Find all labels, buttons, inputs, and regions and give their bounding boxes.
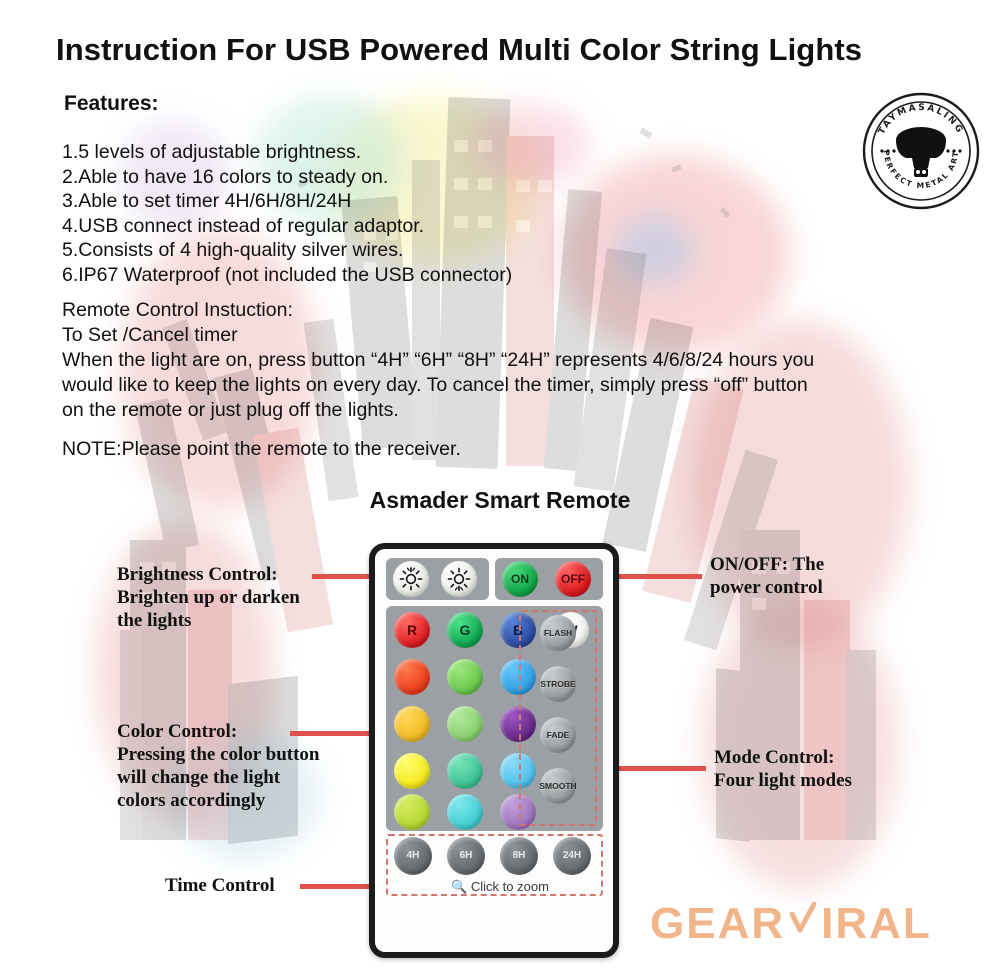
remote-control-instruction: Remote Control Instuction: To Set /Cance… (62, 298, 954, 423)
power-off-label: OFF (561, 573, 585, 585)
mode-button-label: STROBE (540, 680, 575, 689)
color-button-yellow[interactable] (394, 753, 430, 789)
sun-bright-icon (398, 566, 424, 592)
page-title: Instruction For USB Powered Multi Color … (56, 32, 956, 68)
timer-button-label: 6H (460, 851, 473, 861)
annotation-line: power control (710, 576, 950, 599)
mode-button-label: FLASH (544, 629, 572, 638)
color-button-green[interactable]: G (447, 612, 483, 648)
annotation-time-control: Time Control (165, 874, 315, 897)
timer-button-8h[interactable]: 8H (500, 837, 538, 875)
mode-button-flash[interactable]: FLASH (540, 615, 576, 651)
feature-item: 1.5 levels of adjustable brightness. (62, 140, 682, 165)
annotation-onoff-control: ON/OFF: The power control (710, 553, 950, 599)
features-heading: Features: (64, 92, 159, 116)
gearviral-watermark: GEAR IRAL (650, 898, 932, 949)
annotation-line: Color Control: (117, 720, 347, 743)
brand-badge-logo: TAYMASALING PERFECT METAL ART (862, 92, 980, 210)
power-off-button[interactable]: OFF (555, 561, 591, 597)
instruction-line: To Set /Cancel timer (62, 323, 954, 348)
leader-line-onoff (610, 574, 702, 579)
watermark-text-part1: GEAR (650, 899, 785, 949)
timer-button-label: 24H (563, 851, 581, 861)
feature-item: 4.USB connect instead of regular adaptor… (62, 214, 682, 239)
annotation-line: Time Control (165, 874, 315, 897)
timer-button-24h[interactable]: 24H (553, 837, 591, 875)
annotation-line: Brightness Control: (117, 563, 317, 586)
instruction-line: would like to keep the lights on every d… (62, 373, 954, 398)
color-button-light-green[interactable] (447, 659, 483, 695)
color-button-label: G (460, 623, 471, 637)
power-on-button[interactable]: ON (502, 561, 538, 597)
click-to-zoom-hint[interactable]: 🔍 Click to zoom (375, 879, 625, 895)
timer-button-4h[interactable]: 4H (394, 837, 432, 875)
instruction-sheet: Instruction For USB Powered Multi Color … (0, 0, 1000, 968)
timer-button-6h[interactable]: 6H (447, 837, 485, 875)
remote-control: ON OFF R G B W (369, 543, 619, 958)
splash-red-bottom-right (700, 600, 900, 890)
mode-button-smooth[interactable]: SMOOTH (540, 768, 576, 804)
instruction-line: Remote Control Instuction: (62, 298, 954, 323)
annotation-line: Mode Control: (714, 746, 954, 769)
color-button-orange-red[interactable] (394, 659, 430, 695)
annotation-line: colors accordingly (117, 789, 347, 812)
remote-heading: Asmader Smart Remote (0, 487, 1000, 514)
annotation-line: Pressing the color button (117, 743, 347, 766)
click-to-zoom-label: Click to zoom (471, 879, 549, 894)
note-text: NOTE:Please point the remote to the rece… (62, 437, 461, 462)
instruction-line: on the remote or just plug off the light… (62, 398, 954, 423)
color-button-label: R (407, 623, 417, 637)
brightness-up-button[interactable] (393, 561, 429, 597)
features-list: 1.5 levels of adjustable brightness. 2.A… (62, 140, 682, 288)
annotation-line: will change the light (117, 766, 347, 789)
annotation-color-control: Color Control: Pressing the color button… (117, 720, 347, 812)
timer-button-label: 8H (513, 851, 526, 861)
color-button-red[interactable]: R (394, 612, 430, 648)
annotation-mode-control: Mode Control: Four light modes (714, 746, 954, 792)
mode-button-fade[interactable]: FADE (540, 717, 576, 753)
magnifier-icon: 🔍 (451, 879, 467, 894)
color-button-turquoise[interactable] (447, 753, 483, 789)
instruction-line: When the light are on, press button “4H”… (62, 348, 954, 373)
brightness-down-button[interactable] (441, 561, 477, 597)
timer-button-label: 4H (407, 851, 420, 861)
annotation-line: Four light modes (714, 769, 954, 792)
feature-item: 3.Able to set timer 4H/6H/8H/24H (62, 189, 682, 214)
color-button-cyan[interactable] (447, 794, 483, 830)
mode-button-strobe[interactable]: STROBE (540, 666, 576, 702)
annotation-brightness-control: Brightness Control: Brighten up or darke… (117, 563, 317, 632)
watermark-text-part2: IRAL (821, 899, 932, 949)
sun-dim-icon (446, 566, 472, 592)
mode-button-label: SMOOTH (539, 782, 576, 791)
check-mark-icon (788, 898, 818, 949)
annotation-line: ON/OFF: The (710, 553, 950, 576)
color-button-mint-green[interactable] (447, 706, 483, 742)
feature-item: 6.IP67 Waterproof (not included the USB … (62, 263, 682, 288)
feature-item: 2.Able to have 16 colors to steady on. (62, 165, 682, 190)
feature-item: 5.Consists of 4 high-quality silver wire… (62, 238, 682, 263)
power-on-label: ON (511, 573, 529, 585)
color-button-amber[interactable] (394, 706, 430, 742)
leader-line-mode (610, 766, 706, 771)
color-button-lime[interactable] (394, 794, 430, 830)
annotation-line: the lights (117, 609, 317, 632)
annotation-line: Brighten up or darken (117, 586, 317, 609)
mode-button-label: FADE (547, 731, 570, 740)
